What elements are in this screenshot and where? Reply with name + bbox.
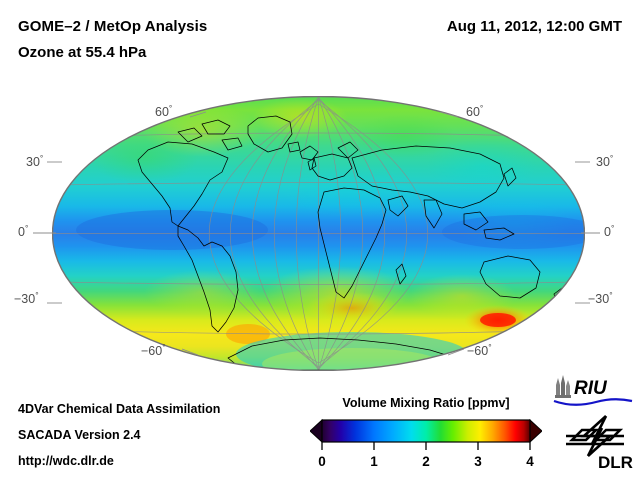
lat-label-minus30-left: −30° (14, 292, 39, 306)
lat-label-minus60-right: −60° (467, 344, 492, 358)
page-subtitle: Ozone at 55.4 hPa (18, 44, 146, 61)
lat-label-minus60-left: −60° (141, 344, 166, 358)
colorbar-title: Volume Mixing Ratio [ppmv] (310, 396, 542, 410)
footer-line-url[interactable]: http://wdc.dlr.de (18, 454, 114, 468)
riu-logo-text: RIU (574, 378, 608, 399)
page-title: GOME–2 / MetOp Analysis (18, 18, 207, 35)
dlr-logo: DLR (562, 414, 636, 472)
dlr-logo-text: DLR (598, 453, 633, 472)
colorbar-tick-2: 2 (422, 454, 430, 469)
colorbar-tick-labels: 0 1 2 3 4 (310, 446, 542, 466)
riu-logo: RIU (552, 374, 634, 408)
dlr-mark-icon (566, 416, 624, 456)
colorbar-tick-4: 4 (526, 454, 534, 469)
footer-line-assimilation: 4DVar Chemical Data Assimilation (18, 402, 220, 416)
colorbar-tick-3: 3 (474, 454, 482, 469)
lat-label-60-left: 60° (155, 105, 172, 119)
globe-projection (52, 96, 585, 371)
lat-label-minus30-right: −30° (588, 292, 613, 306)
riu-wave-icon (554, 399, 632, 405)
lat-label-0-right: 0° (604, 225, 614, 239)
colorbar: Volume Mixing Ratio [ppmv] (310, 396, 542, 474)
riu-towers-icon (555, 375, 571, 398)
lat-label-0-left: 0° (18, 225, 28, 239)
colorbar-cap-low (310, 420, 322, 442)
colorbar-gradient (310, 418, 542, 444)
datetime-label: Aug 11, 2012, 12:00 GMT (447, 18, 622, 35)
colorbar-tick-0: 0 (318, 454, 326, 469)
lat-label-60-right: 60° (466, 105, 483, 119)
visualization-page: GOME–2 / MetOp Analysis Ozone at 55.4 hP… (0, 0, 640, 480)
mollweide-map-svg (52, 96, 585, 371)
lat-label-30-left: 30° (26, 155, 43, 169)
footer-line-version: SACADA Version 2.4 (18, 428, 141, 442)
map-panel (0, 78, 640, 388)
lat-label-30-right: 30° (596, 155, 613, 169)
colorbar-tick-1: 1 (370, 454, 378, 469)
colorbar-bar (322, 420, 530, 442)
colorbar-cap-high (530, 420, 542, 442)
